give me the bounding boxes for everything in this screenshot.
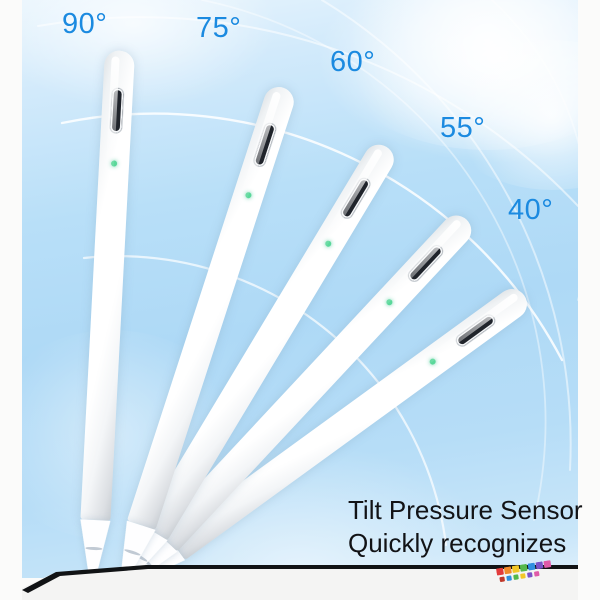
tablet-device [22,560,578,600]
angle-label-55: 55° [440,112,485,145]
sky-background-panel [22,0,578,578]
usb-c-port-icon [110,88,123,133]
angle-label-40: 40° [508,194,553,227]
charging-indicator-led-icon [324,240,332,248]
charging-indicator-led-icon [428,357,436,365]
caption-line-2: Quickly recognizes [348,527,588,560]
angle-label-60: 60° [330,46,375,79]
charging-indicator-led-icon [111,160,117,166]
product-marketing-image: 90° 75° 60° 55° 40° Tilt Pressure Sensor… [0,0,600,600]
charging-indicator-led-icon [245,191,253,199]
angle-label-75: 75° [196,12,241,45]
charging-indicator-led-icon [385,298,393,306]
usb-c-port-icon [253,122,277,167]
caption-line-1: Tilt Pressure Sensor [348,494,588,527]
angle-label-90: 90° [62,8,107,41]
